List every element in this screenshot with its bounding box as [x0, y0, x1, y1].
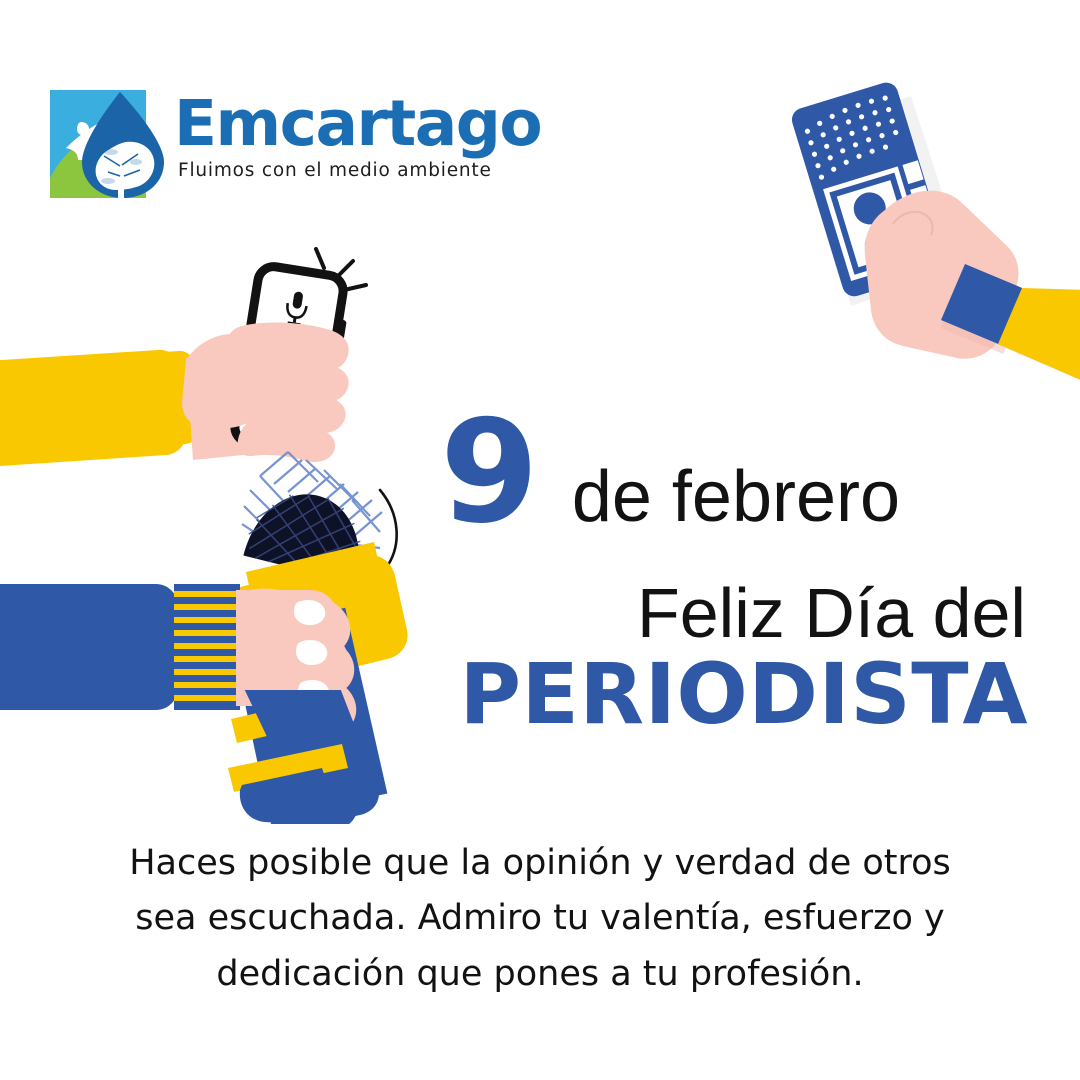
hand-recorder-svg [745, 78, 1080, 408]
date-line: 9 de febrero [440, 408, 1030, 539]
brand-tagline: Fluimos con el medio ambiente [178, 160, 541, 181]
logo-mark-svg [48, 86, 168, 204]
brand-wordmark-group: Emcartago Fluimos con el medio ambiente [174, 86, 541, 181]
brand-logo: Emcartago Fluimos con el medio ambiente [48, 86, 541, 204]
mic-lower-handle-svg [210, 690, 430, 840]
message-line-3: dedicación que pones a tu profesión. [60, 947, 1020, 1002]
profession-line: PERIODISTA [430, 652, 1030, 738]
brand-wordmark: Emcartago [174, 92, 541, 155]
message-line-1: Haces posible que la opinión y verdad de… [60, 836, 1020, 891]
sleeve-blue-shape [0, 584, 178, 710]
greeting-line: Feliz Día del [430, 577, 1030, 651]
illustration-hand-with-recorder [745, 78, 1080, 408]
day-number: 9 [440, 408, 536, 539]
poster-canvas: Emcartago Fluimos con el medio ambiente [0, 0, 1080, 1080]
emcartago-logo-mark [48, 86, 168, 204]
message-paragraph: Haces posible que la opinión y verdad de… [60, 836, 1020, 1002]
microphone-lower-handle [210, 690, 430, 840]
date-suffix: de febrero [572, 461, 900, 533]
headline-block: 9 de febrero Feliz Día del PERIODISTA [430, 408, 1030, 738]
message-line-2: sea escuchada. Admiro tu valentía, esfue… [60, 891, 1020, 946]
